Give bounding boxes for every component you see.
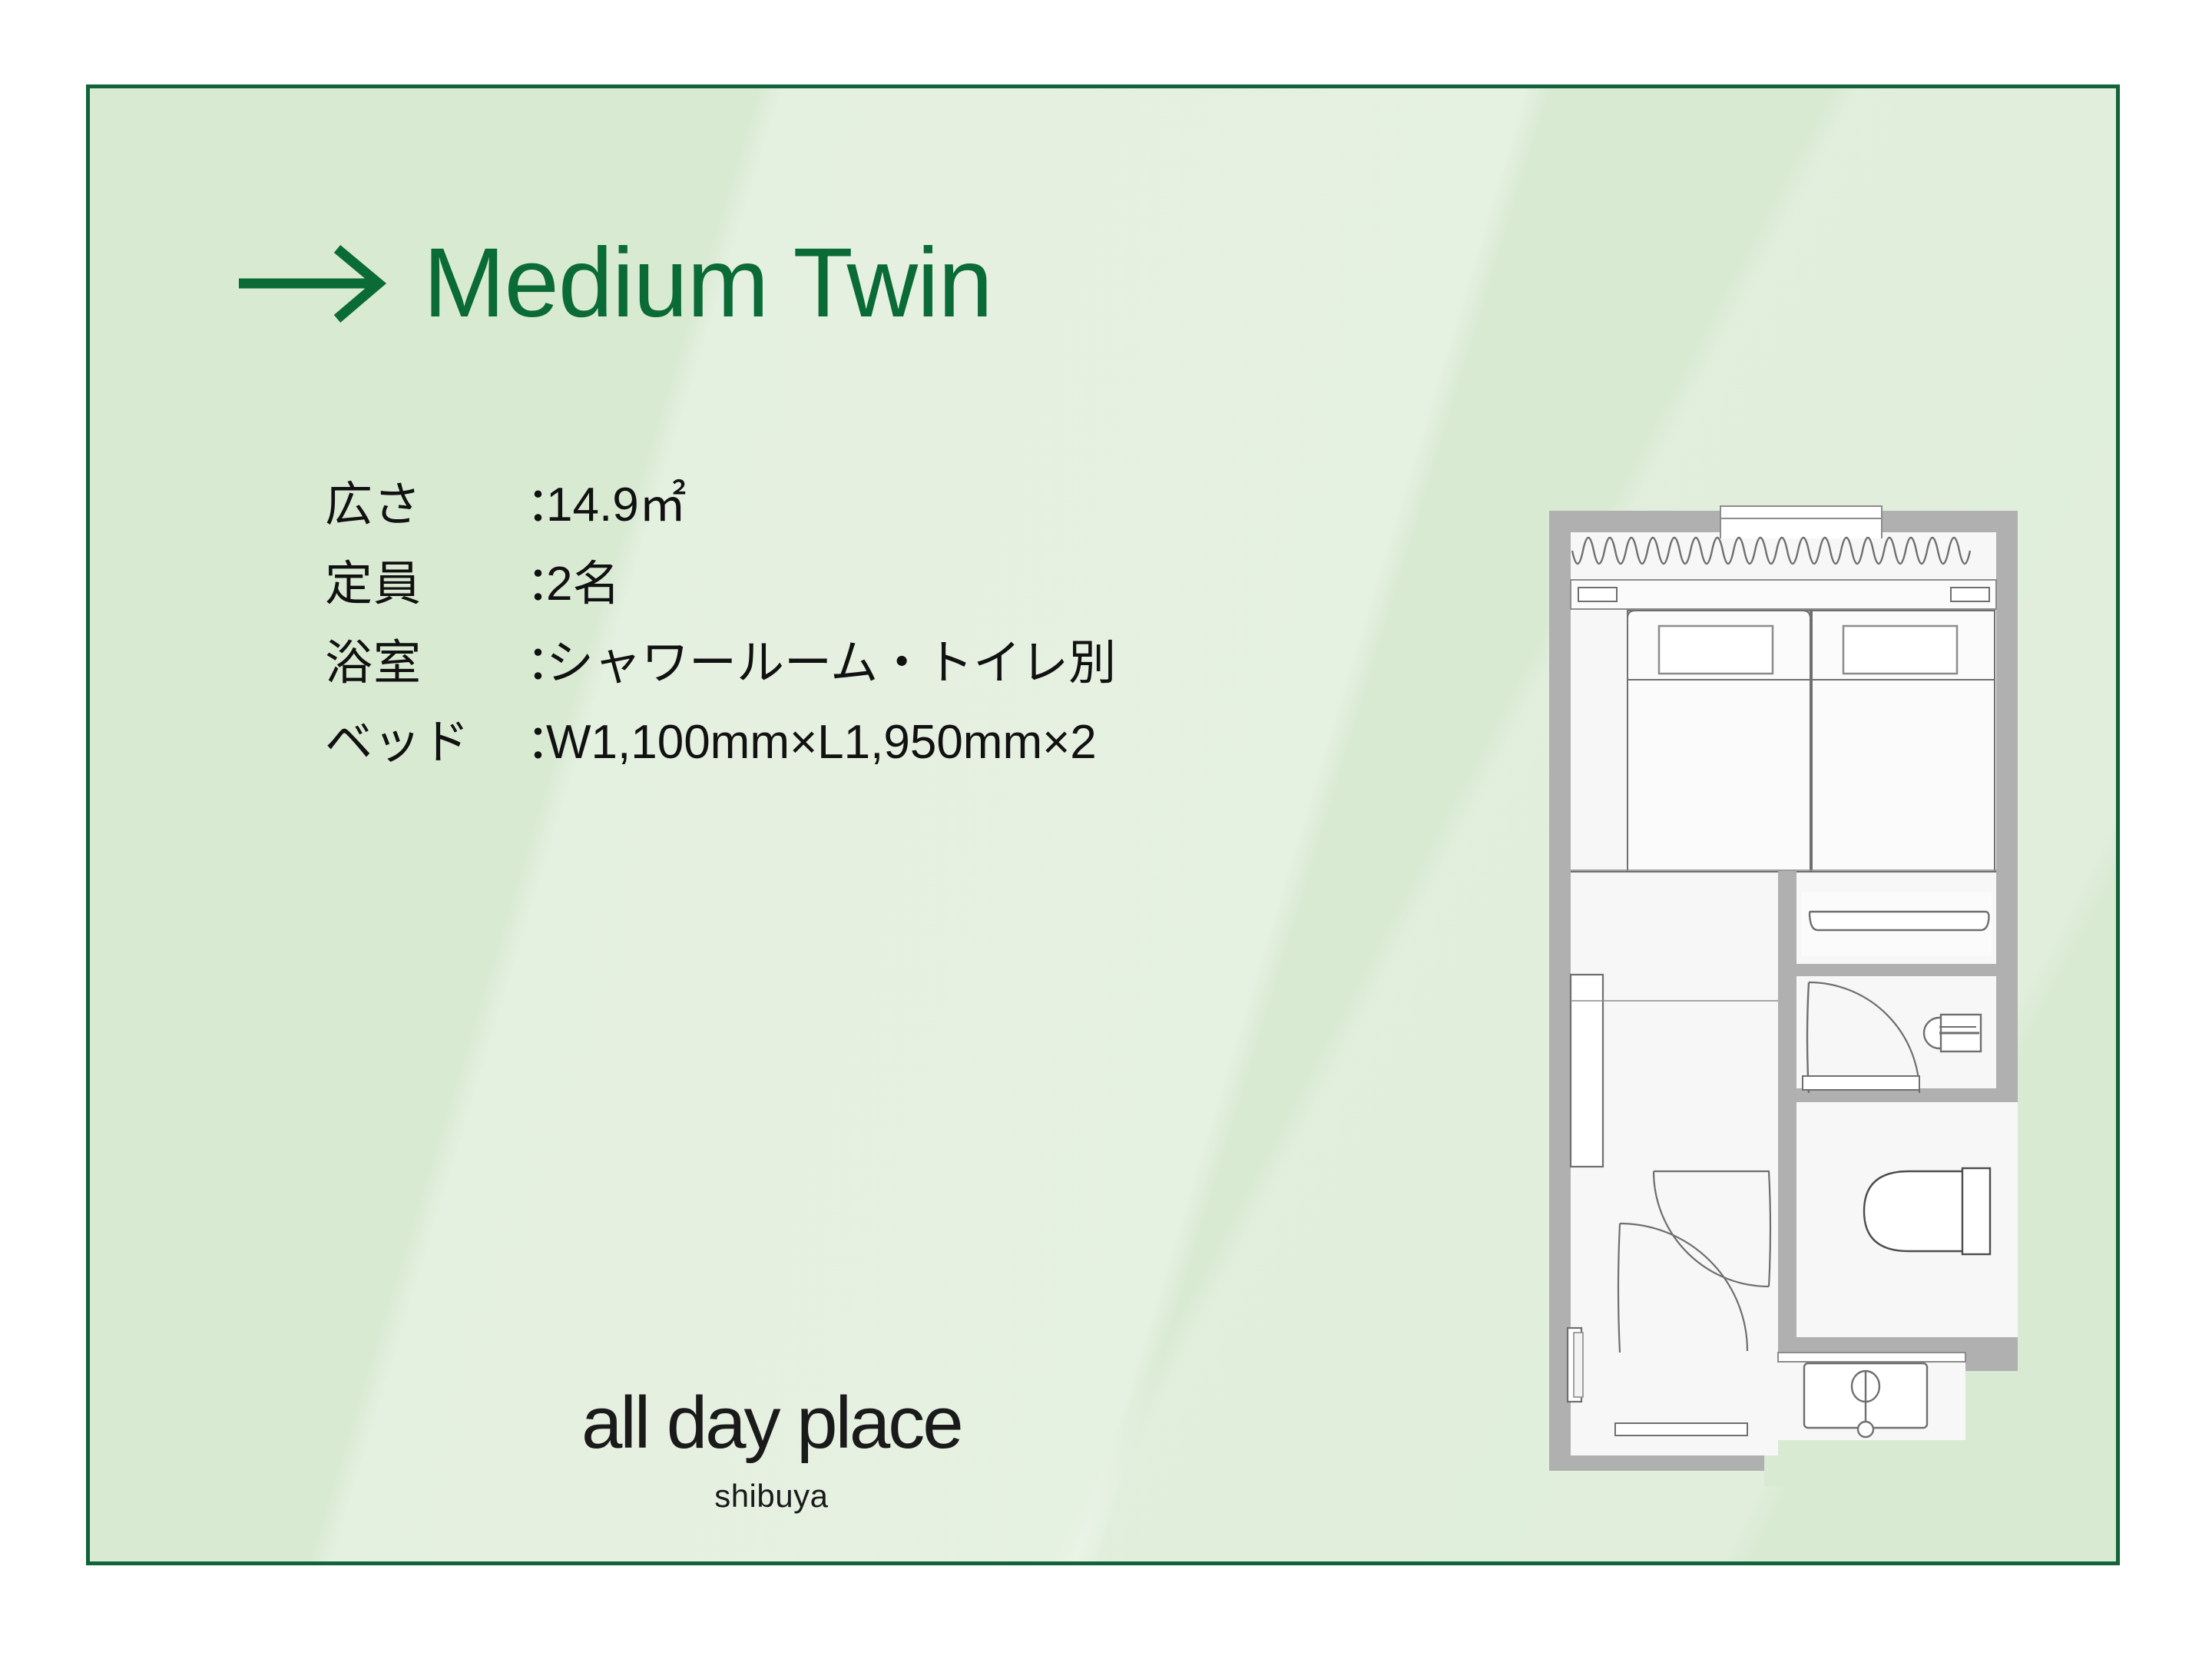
spec-separator-capacity: ： bbox=[526, 561, 546, 608]
bed-left bbox=[1628, 611, 1810, 872]
arrow-right-icon bbox=[236, 241, 389, 326]
spec-separator-area: ： bbox=[526, 482, 546, 529]
brand-sublabel: shibuya bbox=[581, 1480, 962, 1512]
room-type-name: Medium Twin bbox=[423, 234, 992, 333]
shower-head-icon bbox=[1924, 1015, 1981, 1051]
spec-value-capacity: 2名 bbox=[546, 561, 620, 608]
spec-value-area: 14.9㎡ bbox=[546, 482, 687, 529]
spec-row-capacity: 定員 ： 2名 bbox=[325, 561, 1116, 640]
spec-label-area: 広さ bbox=[325, 482, 526, 529]
floorplan-diagram bbox=[1534, 495, 2048, 1486]
page-title: Medium Twin bbox=[236, 234, 992, 333]
spec-row-bed: ベッド ： W1,100mm×L1,950mm×2 bbox=[325, 719, 1116, 798]
spec-separator-bathroom: ： bbox=[526, 640, 546, 687]
towel-shelf bbox=[1801, 892, 1992, 956]
spec-row-bathroom: 浴室 ： シャワールーム・トイレ別 bbox=[325, 640, 1116, 719]
spec-separator-bed: ： bbox=[526, 719, 546, 767]
pillow-left bbox=[1659, 626, 1773, 674]
room-spec-list: 広さ ： 14.9㎡ 定員 ： 2名 浴室 ： シャワールーム・トイレ別 ベッド… bbox=[325, 482, 1116, 798]
brand-logo: all day place shibuya bbox=[581, 1386, 962, 1512]
spec-value-bathroom: シャワールーム・トイレ別 bbox=[546, 640, 1116, 687]
bedside-lamp-left bbox=[1578, 588, 1617, 601]
pillow-right bbox=[1843, 626, 1957, 674]
entry-mirror-icon bbox=[1568, 1328, 1583, 1402]
spec-value-area-number: 14.9 bbox=[546, 478, 639, 531]
brand-name: all day place bbox=[581, 1386, 962, 1460]
spec-row-area: 広さ ： 14.9㎡ bbox=[325, 482, 1116, 561]
window-icon bbox=[1720, 506, 1882, 540]
curtain-icon bbox=[1571, 538, 1996, 578]
headboard-shelf bbox=[1571, 580, 1996, 609]
bed-right bbox=[1812, 611, 1995, 872]
spec-label-bed: ベッド bbox=[325, 719, 526, 767]
toilet-icon bbox=[1864, 1168, 1990, 1254]
room-type-card: Medium Twin 広さ ： 14.9㎡ 定員 ： 2名 浴室 ： シャワー… bbox=[86, 84, 2120, 1565]
spec-value-bed: W1,100mm×L1,950mm×2 bbox=[546, 719, 1097, 767]
spec-value-area-unit: ㎡ bbox=[639, 478, 687, 531]
wall-desk bbox=[1571, 975, 1603, 1167]
spec-label-bathroom: 浴室 bbox=[325, 640, 526, 687]
bedside-lamp-right bbox=[1951, 588, 1989, 601]
spec-label-capacity: 定員 bbox=[325, 561, 526, 608]
